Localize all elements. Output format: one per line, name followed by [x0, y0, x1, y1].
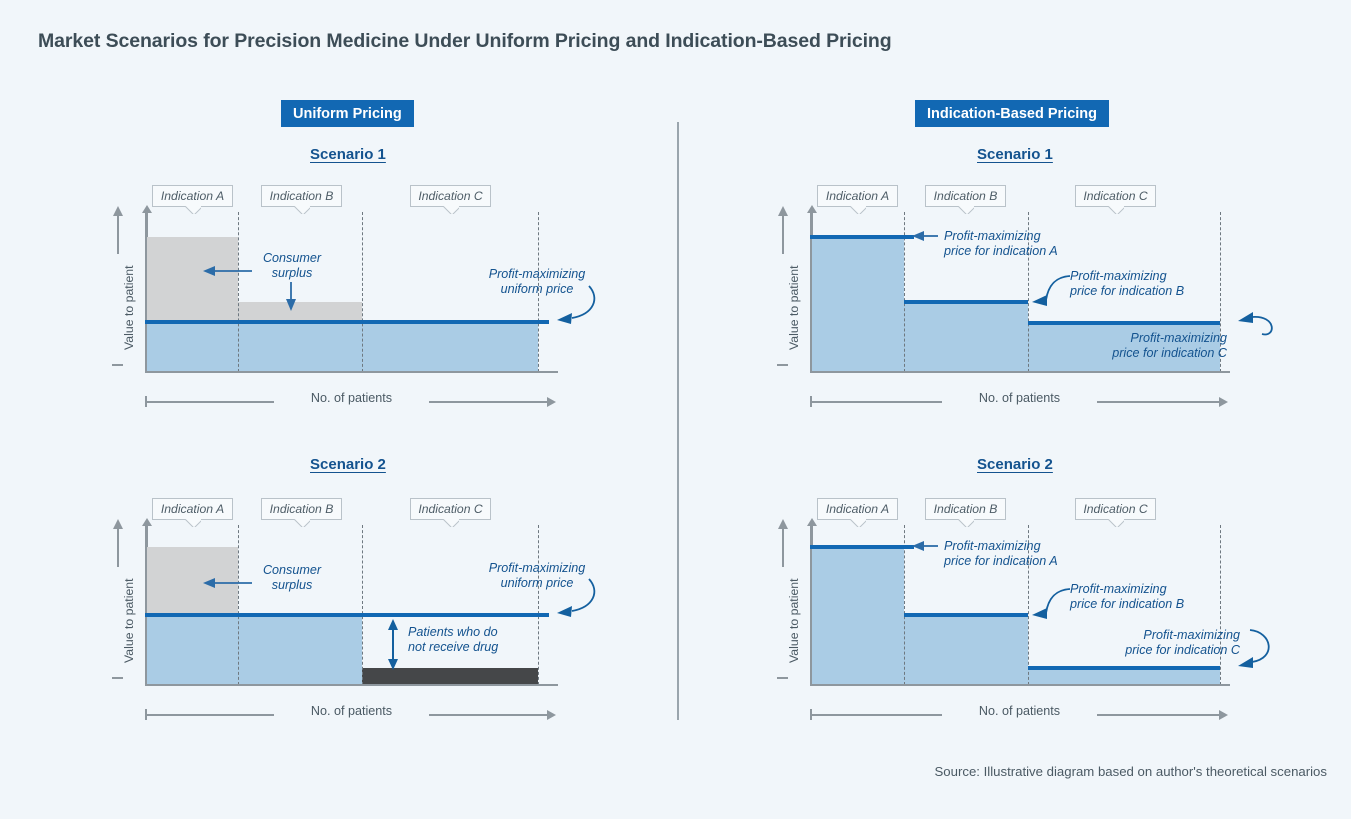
annotation-price-b-line1: Profit-maximizing: [1070, 269, 1184, 284]
annotation-consumer-surplus-line1: Consumer: [256, 563, 328, 578]
price-line-indication-a: [810, 235, 914, 239]
annotation-consumer-surplus-line2: surplus: [256, 266, 328, 281]
annotation-uniform-price: Profit-maximizing uniform price: [481, 267, 593, 298]
callout-tail: [185, 519, 201, 527]
revenue-area-a: [812, 547, 904, 686]
indication-label-a-text: Indication A: [826, 502, 889, 516]
segment-divider-ab: [904, 525, 905, 685]
callout-tail: [443, 519, 459, 527]
consumer-surplus-area-a: [147, 237, 238, 323]
indication-label-c-text: Indication C: [418, 189, 482, 203]
y-axis-label: Value to patient: [787, 265, 801, 350]
indication-label-a: Indication A: [817, 498, 898, 520]
x-axis-arrow-head: [547, 710, 556, 720]
indication-label-a: Indication A: [817, 185, 898, 207]
indication-label-c: Indication C: [1075, 498, 1156, 520]
x-axis-caption-row: No. of patients: [810, 707, 1230, 723]
x-axis-bar-left: [812, 401, 942, 403]
arrow-price-a: [912, 541, 938, 551]
revenue-area: [147, 323, 538, 371]
annotation-uniform-price: Profit-maximizing uniform price: [481, 561, 593, 592]
indication-label-a: Indication A: [152, 185, 233, 207]
price-line-indication-b: [904, 300, 1028, 304]
scenario-title-left-1: Scenario 1: [310, 146, 386, 163]
annotation-price-indication-a: Profit-maximizing price for indication A: [944, 539, 1058, 570]
segment-end-c: [538, 525, 539, 685]
x-axis-label: No. of patients: [276, 391, 427, 405]
y-axis-arrow-stem: [782, 212, 784, 254]
x-axis-bar-right: [1097, 714, 1219, 716]
callout-tail: [185, 206, 201, 214]
price-line-indication-b: [904, 613, 1028, 617]
scenario-title-right-2: Scenario 2: [977, 456, 1053, 473]
segment-end-c: [1220, 525, 1221, 685]
indication-label-c: Indication C: [410, 498, 491, 520]
indication-label-a-text: Indication A: [161, 502, 224, 516]
y-axis-label: Value to patient: [787, 578, 801, 663]
indication-label-a: Indication A: [152, 498, 233, 520]
x-axis-label: No. of patients: [944, 704, 1095, 718]
indication-label-a-text: Indication A: [161, 189, 224, 203]
y-axis-arrow-stem: [117, 212, 119, 254]
x-axis-bar-right: [1097, 401, 1219, 403]
annotation-price-a-line2: price for indication A: [944, 244, 1058, 259]
indication-label-c-text: Indication C: [418, 502, 482, 516]
x-axis-arrow-head: [1219, 397, 1228, 407]
x-axis-bar-right: [429, 714, 547, 716]
uniform-price-line: [145, 320, 549, 324]
revenue-area-b: [904, 302, 1028, 371]
annotation-price-a-line1: Profit-maximizing: [944, 229, 1058, 244]
revenue-area-a: [812, 237, 904, 371]
annotation-price-b-line2: price for indication B: [1070, 597, 1184, 612]
segment-divider-ab: [238, 212, 239, 372]
indication-label-c-text: Indication C: [1083, 189, 1147, 203]
segment-divider-bc: [362, 212, 363, 372]
annotation-price-c-line1: Profit-maximizing: [1083, 331, 1227, 346]
callout-tail: [958, 519, 974, 527]
arrow-price-b-curve: [1032, 589, 1070, 619]
callout-tail: [294, 519, 310, 527]
y-axis-arrow-stem: [782, 525, 784, 567]
indication-label-c: Indication C: [410, 185, 491, 207]
source-note: Source: Illustrative diagram based on au…: [935, 764, 1328, 779]
revenue-area: [147, 615, 362, 686]
annotation-price-a-line2: price for indication A: [944, 554, 1058, 569]
indication-label-b: Indication B: [925, 185, 1006, 207]
x-axis-bar-left: [147, 401, 274, 403]
panel-divider: [677, 122, 679, 720]
price-line-indication-c: [1028, 321, 1220, 325]
annotation-uniform-price-line2: uniform price: [481, 282, 593, 297]
x-axis-label: No. of patients: [944, 391, 1095, 405]
indication-label-b-text: Indication B: [934, 502, 998, 516]
annotation-uniform-price-line2: uniform price: [481, 576, 593, 591]
y-axis-arrow-stem: [117, 525, 119, 567]
x-axis-line: [145, 684, 558, 686]
y-axis-base-tick: [777, 364, 788, 366]
scenario-title-left-2: Scenario 2: [310, 456, 386, 473]
callout-tail: [850, 519, 866, 527]
annotation-price-indication-c: Profit-maximizing price for indication C: [1083, 331, 1227, 362]
x-axis-arrow-head: [547, 397, 556, 407]
scenario-title-right-1: Scenario 1: [977, 146, 1053, 163]
callout-tail: [443, 206, 459, 214]
indication-label-c-text: Indication C: [1083, 502, 1147, 516]
x-axis-caption-row: No. of patients: [145, 707, 558, 723]
page-title: Market Scenarios for Precision Medicine …: [38, 30, 892, 53]
arrow-price-b-curve: [1032, 276, 1070, 306]
annotation-price-b-line1: Profit-maximizing: [1070, 582, 1184, 597]
price-line-indication-c: [1028, 666, 1220, 670]
x-axis-bar-left: [147, 714, 274, 716]
x-axis-bar-right: [429, 401, 547, 403]
diagram-canvas: Market Scenarios for Precision Medicine …: [0, 0, 1351, 819]
callout-tail: [1108, 206, 1124, 214]
annotation-price-c-line1: Profit-maximizing: [1096, 628, 1240, 643]
annotation-price-indication-c: Profit-maximizing price for indication C: [1096, 628, 1240, 659]
annotation-price-indication-a: Profit-maximizing price for indication A: [944, 229, 1058, 260]
indication-label-b: Indication B: [925, 498, 1006, 520]
uniform-price-line: [145, 613, 549, 617]
annotation-price-b-line2: price for indication B: [1070, 284, 1184, 299]
y-axis-base-tick: [777, 677, 788, 679]
segment-divider-bc: [362, 525, 363, 685]
indication-label-b: Indication B: [261, 185, 342, 207]
x-axis-line: [810, 684, 1230, 686]
annotation-consumer-surplus: Consumer surplus: [256, 251, 328, 282]
arrow-price-a: [912, 231, 938, 241]
annotation-price-c-line2: price for indication C: [1096, 643, 1240, 658]
y-axis-label: Value to patient: [122, 265, 136, 350]
y-axis-label: Value to patient: [122, 578, 136, 663]
revenue-area-b: [904, 615, 1028, 686]
x-axis-line: [145, 371, 558, 373]
consumer-surplus-area-a: [147, 547, 238, 615]
x-axis-arrow-head: [1219, 710, 1228, 720]
annotation-consumer-surplus: Consumer surplus: [256, 563, 328, 594]
indication-label-b-text: Indication B: [934, 189, 998, 203]
annotation-consumer-surplus-line1: Consumer: [256, 251, 328, 266]
arrow-price-c-curve: [1238, 630, 1269, 668]
x-axis-bar-left: [812, 714, 942, 716]
price-line-indication-a: [810, 545, 914, 549]
callout-tail: [1108, 519, 1124, 527]
indication-label-b-text: Indication B: [270, 189, 334, 203]
indication-label-b-text: Indication B: [270, 502, 334, 516]
segment-divider-ab: [238, 525, 239, 685]
annotation-price-a-line1: Profit-maximizing: [944, 539, 1058, 554]
callout-tail: [850, 206, 866, 214]
annotation-patients-no-drug-line2: not receive drug: [408, 640, 498, 655]
y-axis-base-tick: [112, 677, 123, 679]
x-axis-line: [810, 371, 1230, 373]
x-axis-caption-row: No. of patients: [145, 394, 558, 410]
x-axis-caption-row: No. of patients: [810, 394, 1230, 410]
panel-badge-uniform-pricing: Uniform Pricing: [281, 100, 414, 127]
annotation-patients-no-drug: Patients who do not receive drug: [408, 625, 498, 656]
annotation-consumer-surplus-line2: surplus: [256, 578, 328, 593]
x-axis-label: No. of patients: [276, 704, 427, 718]
callout-tail: [294, 206, 310, 214]
annotation-uniform-price-line1: Profit-maximizing: [481, 561, 593, 576]
indication-label-c: Indication C: [1075, 185, 1156, 207]
annotation-patients-no-drug-line1: Patients who do: [408, 625, 498, 640]
annotation-price-indication-b: Profit-maximizing price for indication B: [1070, 582, 1184, 613]
annotation-price-indication-b: Profit-maximizing price for indication B: [1070, 269, 1184, 300]
annotation-price-c-line2: price for indication C: [1083, 346, 1227, 361]
annotation-uniform-price-line1: Profit-maximizing: [481, 267, 593, 282]
panel-badge-indication-based-pricing: Indication-Based Pricing: [915, 100, 1109, 127]
arrow-price-c-curve: [1238, 312, 1272, 334]
y-axis-base-tick: [112, 364, 123, 366]
arrow-patients-no-drug-double: [388, 619, 398, 670]
indication-label-b: Indication B: [261, 498, 342, 520]
callout-tail: [958, 206, 974, 214]
indication-label-a-text: Indication A: [826, 189, 889, 203]
